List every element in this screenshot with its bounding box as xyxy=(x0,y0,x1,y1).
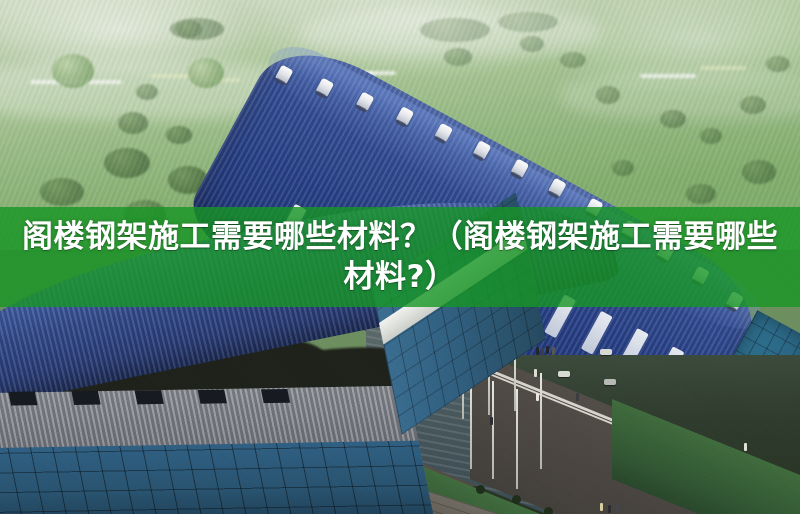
title-banner: 阁楼钢架施工需要哪些材料？（阁楼钢架施工需要哪些材料?） xyxy=(0,207,800,307)
glass-curtain-wall xyxy=(0,441,435,514)
page-title: 阁楼钢架施工需要哪些材料？（阁楼钢架施工需要哪些材料?） xyxy=(12,217,788,297)
article-cover-image: 阁楼钢架施工需要哪些材料？（阁楼钢架施工需要哪些材料?） xyxy=(0,0,800,514)
